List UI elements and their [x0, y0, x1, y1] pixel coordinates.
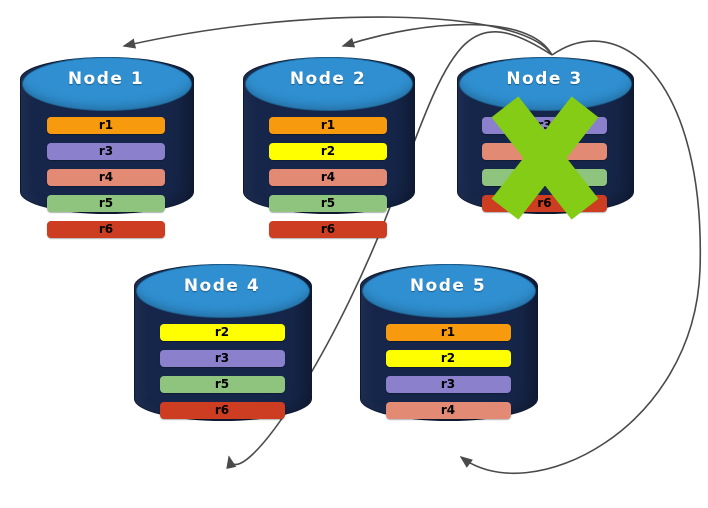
replica-bar[interactable]: r5: [47, 195, 165, 212]
replica-bar[interactable]: r4: [482, 143, 607, 160]
replica-list: r1r3r4r5r6: [20, 109, 192, 247]
replica-bar[interactable]: r5: [160, 376, 285, 393]
node-label: Node 5: [360, 276, 536, 296]
replica-bar[interactable]: r4: [47, 169, 165, 186]
replica-list: r2r3r5r6: [134, 316, 310, 428]
replica-bar[interactable]: r3: [482, 117, 607, 134]
replica-bar[interactable]: r4: [386, 402, 511, 419]
database-node-3[interactable]: Node 3r3r4r5r6: [457, 57, 632, 212]
replica-bar[interactable]: r6: [269, 221, 387, 238]
replica-bar[interactable]: r1: [47, 117, 165, 134]
replica-bar[interactable]: r3: [47, 143, 165, 160]
replica-bar[interactable]: r5: [482, 169, 607, 186]
arrow-node3-to-node2: [343, 25, 552, 55]
replica-bar[interactable]: r3: [386, 376, 511, 393]
database-node-5[interactable]: Node 5r1r2r3r4: [360, 264, 536, 419]
replica-bar[interactable]: r2: [386, 350, 511, 367]
replica-list: r1r2r3r4: [360, 316, 536, 428]
database-node-1[interactable]: Node 1r1r3r4r5r6: [20, 57, 192, 212]
node-label: Node 3: [457, 69, 632, 89]
replica-bar[interactable]: r2: [160, 324, 285, 341]
node-label: Node 1: [20, 69, 192, 89]
node-label: Node 4: [134, 276, 310, 296]
replica-list: r3r4r5r6: [457, 109, 632, 221]
replica-bar[interactable]: r3: [160, 350, 285, 367]
replica-bar[interactable]: r1: [269, 117, 387, 134]
database-node-2[interactable]: Node 2r1r2r4r5r6: [243, 57, 413, 212]
replica-bar[interactable]: r1: [386, 324, 511, 341]
replica-bar[interactable]: r6: [482, 195, 607, 212]
diagram-canvas: Node 1r1r3r4r5r6Node 2r1r2r4r5r6Node 3r3…: [0, 0, 708, 508]
replica-list: r1r2r4r5r6: [243, 109, 413, 247]
replica-bar[interactable]: r6: [47, 221, 165, 238]
replica-bar[interactable]: r4: [269, 169, 387, 186]
replica-bar[interactable]: r5: [269, 195, 387, 212]
replica-bar[interactable]: r2: [269, 143, 387, 160]
arrow-node3-to-node1: [124, 17, 552, 55]
node-label: Node 2: [243, 69, 413, 89]
replica-bar[interactable]: r6: [160, 402, 285, 419]
database-node-4[interactable]: Node 4r2r3r5r6: [134, 264, 310, 419]
